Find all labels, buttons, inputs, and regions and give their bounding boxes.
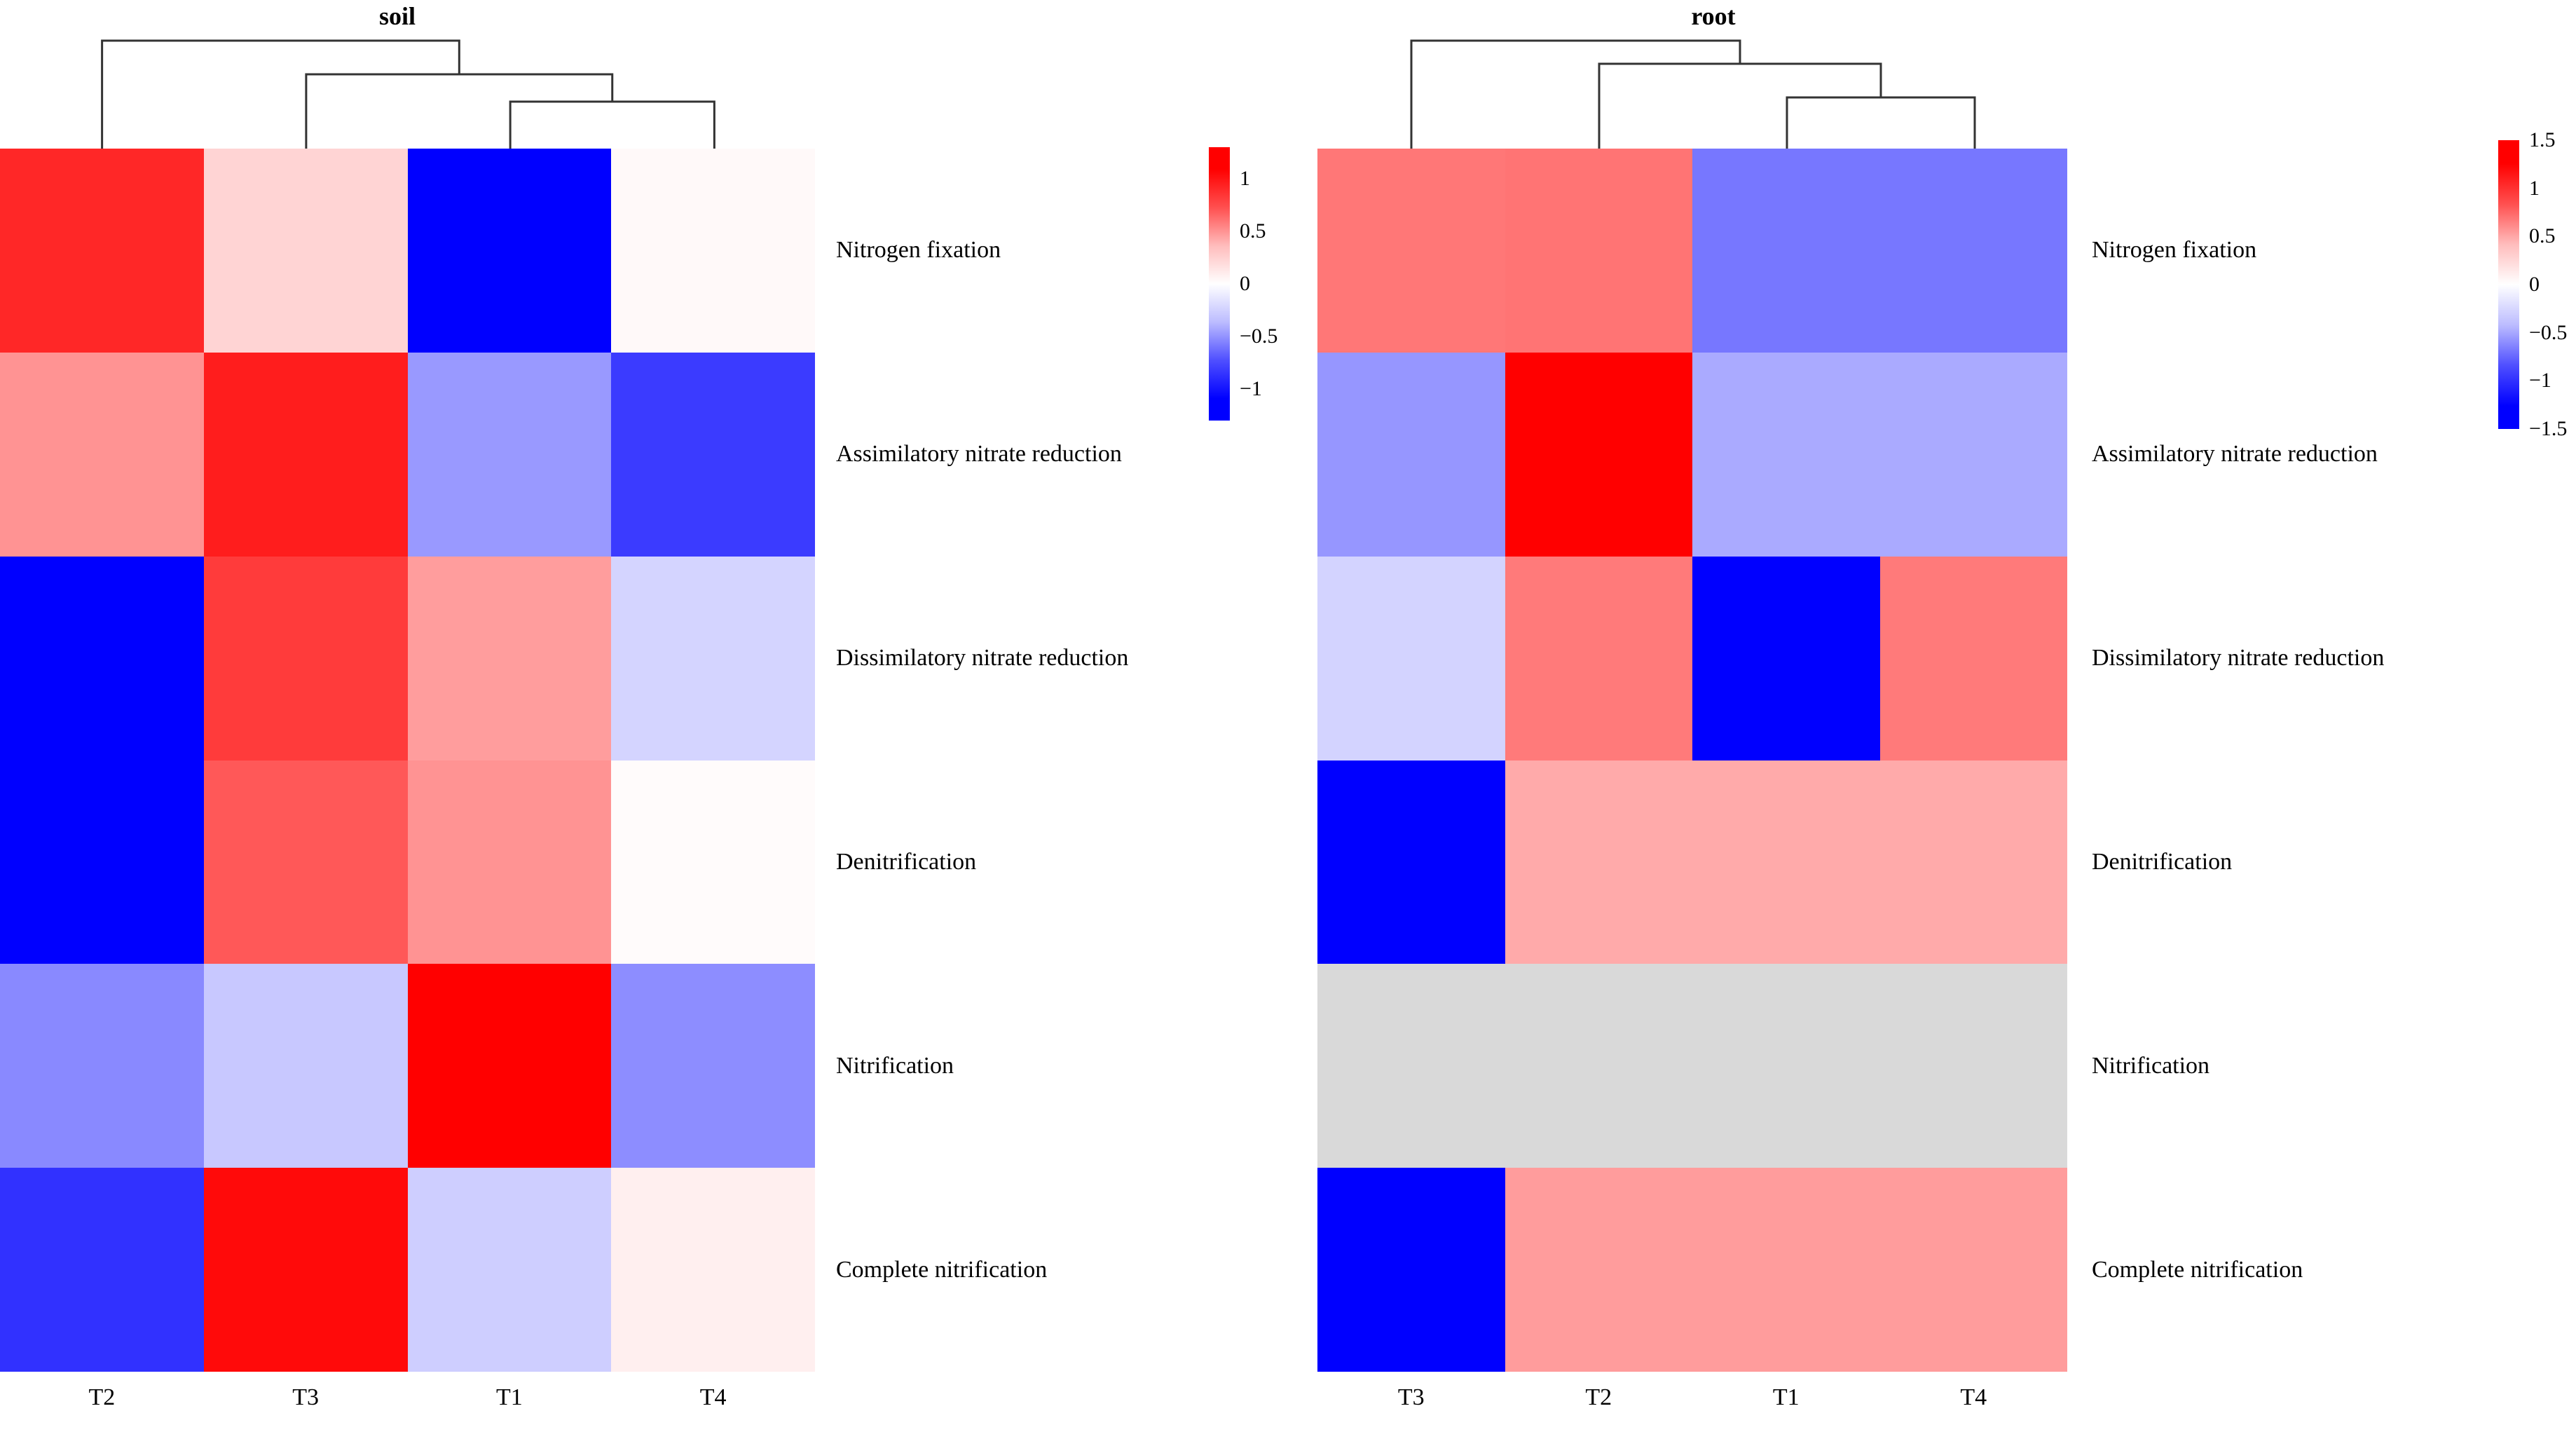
- heatmap-cell: [1505, 353, 1693, 557]
- heatmap-cell: [1880, 149, 2068, 353]
- soil-heatmap-grid: [0, 149, 815, 1372]
- colorbar-tick-label: −0.5: [2529, 321, 2567, 345]
- heatmap-cell: [611, 1168, 815, 1372]
- colorbar-tick-label: 1: [2529, 177, 2540, 200]
- heatmap-cell: [1692, 557, 1880, 761]
- column-label: T2: [1585, 1384, 1612, 1411]
- dendrogram-link: [306, 74, 612, 149]
- heatmap-cell: [0, 557, 204, 761]
- root-colorbar: [2498, 140, 2519, 429]
- row-label: Nitrification: [2092, 1053, 2210, 1079]
- colorbar-tick-label: −0.5: [1240, 325, 1277, 348]
- colorbar-tick-label: 0.5: [1240, 219, 1266, 243]
- heatmap-cell: [611, 353, 815, 557]
- heatmap-figure: soil Nitrogen fixationAssimilatory nitra…: [0, 0, 2576, 1432]
- colorbar-tick-label: 0: [1240, 272, 1250, 296]
- heatmap-cell: [204, 557, 408, 761]
- heatmap-cell: [1880, 1168, 2068, 1372]
- row-label: Assimilatory nitrate reduction: [836, 441, 1122, 468]
- colorbar-tick-label: −1.5: [2529, 417, 2567, 441]
- heatmap-cell: [1317, 353, 1505, 557]
- heatmap-cell: [204, 353, 408, 557]
- dendrogram-link: [1787, 97, 1975, 149]
- heatmap-cell: [408, 1168, 612, 1372]
- column-label: T1: [496, 1384, 523, 1411]
- dendrogram-link: [102, 41, 460, 149]
- heatmap-cell: [1317, 1168, 1505, 1372]
- heatmap-cell: [1880, 964, 2068, 1168]
- heatmap-cell: [408, 149, 612, 353]
- heatmap-cell: [1505, 557, 1693, 761]
- heatmap-cell: [408, 761, 612, 964]
- colorbar-tick-label: 1.5: [2529, 128, 2556, 152]
- dendrogram-link: [1599, 64, 1881, 149]
- heatmap-cell: [204, 761, 408, 964]
- soil-panel-title: soil: [379, 1, 416, 31]
- heatmap-cell: [0, 353, 204, 557]
- column-label: T2: [88, 1384, 115, 1411]
- colorbar-tick-label: 1: [1240, 167, 1250, 191]
- colorbar-tick-label: −1: [1240, 377, 1262, 401]
- heatmap-cell: [1692, 964, 1880, 1168]
- row-label: Dissimilatory nitrate reduction: [2092, 645, 2384, 671]
- dendrogram-link: [510, 102, 714, 149]
- heatmap-cell: [0, 149, 204, 353]
- heatmap-cell: [1317, 149, 1505, 353]
- heatmap-cell: [0, 1168, 204, 1372]
- heatmap-cell: [204, 1168, 408, 1372]
- dendrogram-link: [1411, 41, 1740, 149]
- soil-dendrogram: [0, 28, 816, 149]
- heatmap-cell: [1317, 557, 1505, 761]
- row-label: Nitrification: [836, 1053, 954, 1079]
- colorbar-tick-label: 0: [2529, 273, 2540, 296]
- heatmap-cell: [408, 964, 612, 1168]
- heatmap-cell: [1692, 761, 1880, 964]
- column-label: T4: [1960, 1384, 1987, 1411]
- heatmap-cell: [1505, 149, 1693, 353]
- row-label: Complete nitrification: [836, 1257, 1047, 1283]
- heatmap-cell: [611, 557, 815, 761]
- heatmap-cell: [611, 761, 815, 964]
- heatmap-cell: [1692, 149, 1880, 353]
- root-panel-title: root: [1691, 1, 1735, 31]
- heatmap-cell: [1692, 353, 1880, 557]
- column-label: T1: [1773, 1384, 1800, 1411]
- heatmap-cell: [611, 149, 815, 353]
- row-label: Denitrification: [2092, 849, 2232, 875]
- row-label: Assimilatory nitrate reduction: [2092, 441, 2378, 468]
- colorbar-tick-label: 0.5: [2529, 224, 2556, 248]
- heatmap-cell: [0, 964, 204, 1168]
- heatmap-cell: [1880, 557, 2068, 761]
- heatmap-cell: [611, 964, 815, 1168]
- heatmap-cell: [1880, 761, 2068, 964]
- heatmap-cell: [1692, 1168, 1880, 1372]
- soil-colorbar: [1209, 147, 1230, 421]
- heatmap-cell: [408, 557, 612, 761]
- row-label: Nitrogen fixation: [2092, 237, 2256, 264]
- heatmap-cell: [1317, 761, 1505, 964]
- colorbar-tick-label: −1: [2529, 369, 2551, 393]
- root-dendrogram: [1317, 28, 2069, 149]
- heatmap-cell: [408, 353, 612, 557]
- soil-colorbar-gradient: [1209, 147, 1230, 421]
- heatmap-cell: [204, 149, 408, 353]
- row-label: Nitrogen fixation: [836, 237, 1001, 264]
- column-label: T3: [292, 1384, 319, 1411]
- heatmap-cell: [1505, 761, 1693, 964]
- column-label: T4: [700, 1384, 727, 1411]
- heatmap-cell: [1505, 1168, 1693, 1372]
- row-label: Denitrification: [836, 849, 976, 875]
- row-label: Complete nitrification: [2092, 1257, 2303, 1283]
- root-heatmap-grid: [1317, 149, 2067, 1372]
- heatmap-cell: [204, 964, 408, 1168]
- column-label: T3: [1398, 1384, 1425, 1411]
- row-label: Dissimilatory nitrate reduction: [836, 645, 1128, 671]
- root-colorbar-gradient: [2498, 140, 2519, 429]
- heatmap-cell: [1505, 964, 1693, 1168]
- heatmap-cell: [0, 761, 204, 964]
- heatmap-cell: [1317, 964, 1505, 1168]
- heatmap-cell: [1880, 353, 2068, 557]
